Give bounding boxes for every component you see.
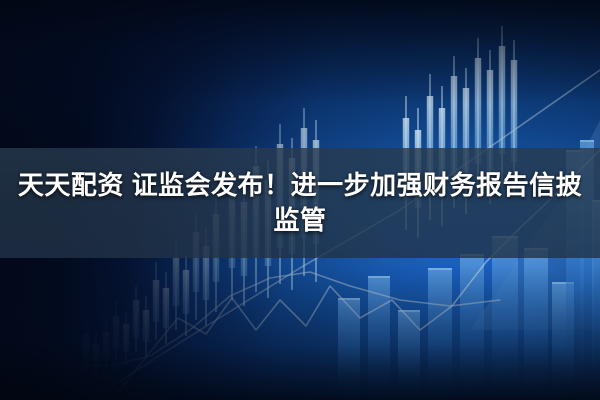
news-banner: 天天配资 证监会发布！进一步加强财务报告信披 监管 <box>0 0 600 400</box>
headline-line-2: 监管 <box>263 203 336 238</box>
headline-line-1: 天天配资 证监会发布！进一步加强财务报告信披 <box>8 168 592 203</box>
headline-band: 天天配资 证监会发布！进一步加强财务报告信披 监管 <box>0 148 600 258</box>
